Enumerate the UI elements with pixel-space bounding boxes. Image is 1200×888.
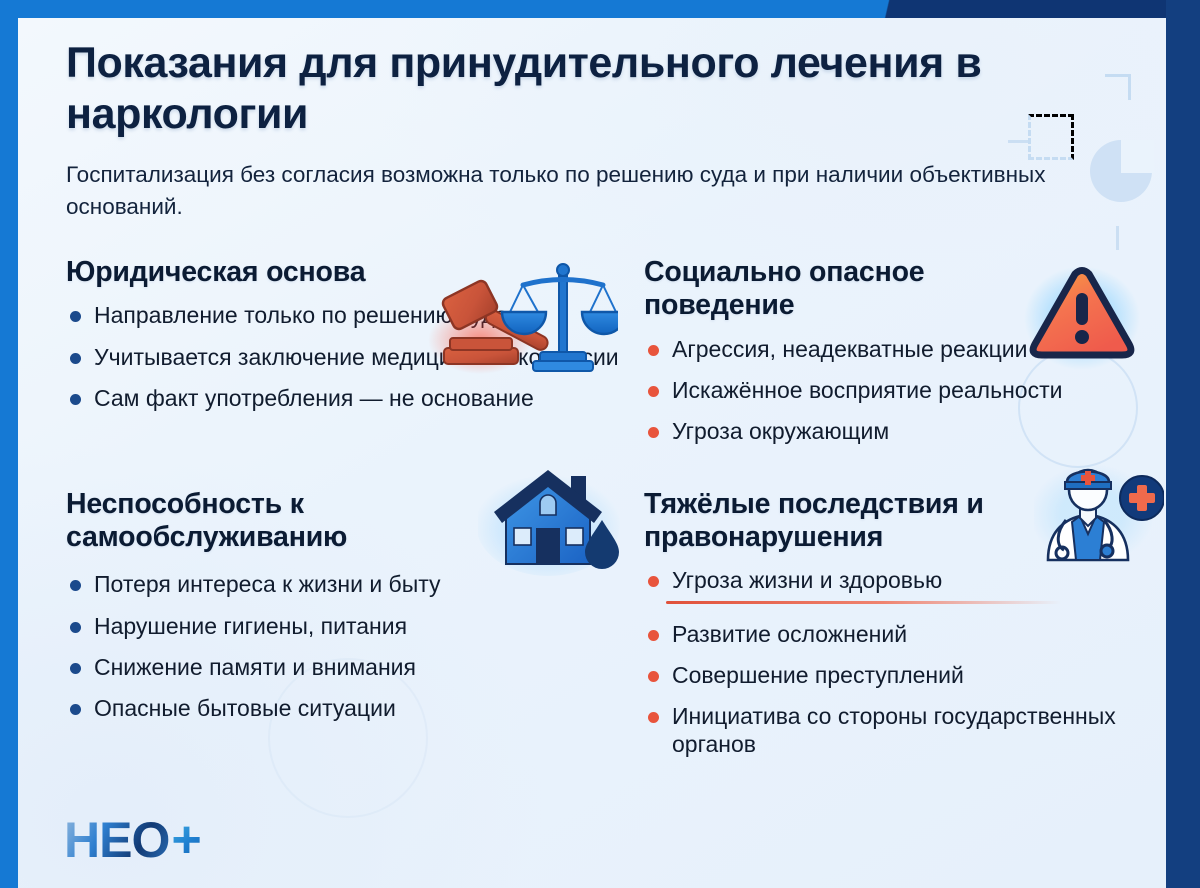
section-divider <box>666 601 1061 604</box>
list-item-text: Искажённое восприятие реальности <box>672 377 1062 403</box>
corner-bracket-decor-top <box>1105 74 1131 100</box>
logo-plus-icon: + <box>171 814 201 866</box>
house-droplet-svg <box>478 466 628 576</box>
house-droplet-icon <box>478 466 628 581</box>
frame-right-band <box>1166 0 1200 888</box>
list-item: Искажённое восприятие реальности <box>644 376 1146 404</box>
list-item: Сам факт употребления — не основание <box>66 384 644 412</box>
frame-left-band <box>0 0 18 888</box>
list-item-text: Сам факт употребления — не основание <box>94 385 534 411</box>
section-heading: Социально опасное поведение <box>644 256 1064 323</box>
section-points-list: Потеря интереса к жизни и быту Нарушение… <box>66 570 644 722</box>
logo-text: НЕО <box>64 815 169 865</box>
bullet-dot-icon <box>70 353 81 364</box>
bullet-dot-icon <box>70 394 81 405</box>
bullet-dot-icon <box>648 671 659 682</box>
bullet-dot-icon <box>648 345 659 356</box>
list-item-text: Агрессия, неадекватные реакции <box>672 336 1027 362</box>
list-item: Развитие осложнений <box>644 620 1146 648</box>
list-item: Направление только по решению суда <box>66 301 644 329</box>
list-item-text: Инициатива со стороны государственных ор… <box>672 703 1116 757</box>
list-item: Агрессия, неадекватные реакции <box>644 335 1146 363</box>
list-item: Нарушение гигиены, питания <box>66 612 644 640</box>
list-item: Угроза жизни и здоровью <box>644 566 1146 594</box>
bullet-dot-icon <box>648 427 659 438</box>
list-item-text: Потеря интереса к жизни и быту <box>94 571 441 597</box>
section-dangerous-behavior: Социально опасное поведение Агрессия, не… <box>644 256 1146 446</box>
section-legal: Юридическая основа Направление только по… <box>66 256 644 446</box>
frame-top-blue-band <box>0 0 880 18</box>
infographic-poster: Показания для принудительного лечения в … <box>0 0 1200 888</box>
section-points-list: Направление только по решению суда Учиты… <box>66 301 644 412</box>
list-item: Опасные бытовые ситуации <box>66 694 644 722</box>
list-item: Угроза окружающим <box>644 417 1146 445</box>
list-item: Потеря интереса к жизни и быту <box>66 570 644 598</box>
bullet-dot-icon <box>70 580 81 591</box>
list-item-text: Угроза жизни и здоровью <box>672 567 942 593</box>
bullet-dot-icon <box>648 630 659 641</box>
pie-chart-decor <box>1090 140 1152 202</box>
section-points-list: Угроза жизни и здоровью <box>644 566 1146 594</box>
page-title: Показания для принудительного лечения в … <box>66 38 1066 139</box>
bullet-dot-icon <box>648 386 659 397</box>
list-item-text: Направление только по решению суда <box>94 302 508 328</box>
section-points-list-continued: Развитие осложнений Совершение преступле… <box>644 620 1146 759</box>
list-item: Снижение памяти и внимания <box>66 653 644 681</box>
poster-canvas: Показания для принудительного лечения в … <box>18 18 1166 888</box>
list-item-text: Развитие осложнений <box>672 621 907 647</box>
header: Показания для принудительного лечения в … <box>66 38 1066 223</box>
page-subtitle: Госпитализация без согласия возможна тол… <box>66 159 1066 223</box>
doctor-cross-icon <box>1034 458 1164 573</box>
section-heading: Неспособность к самообслуживанию <box>66 488 466 555</box>
list-item-text: Учитывается заключение медицинской комис… <box>94 344 619 370</box>
list-item-text: Опасные бытовые ситуации <box>94 695 396 721</box>
bullet-dot-icon <box>70 622 81 633</box>
section-severe-consequences: Тяжёлые последствия и правонарушения Угр… <box>644 464 1146 759</box>
section-self-care-inability: Неспособность к самообслуживанию Потеря … <box>66 464 644 759</box>
bullet-dot-icon <box>70 311 81 322</box>
section-heading: Юридическая основа <box>66 256 644 289</box>
list-item: Учитывается заключение медицинской комис… <box>66 343 644 371</box>
section-points-list: Агрессия, неадекватные реакции Искажённо… <box>644 335 1146 446</box>
list-item-text: Совершение преступлений <box>672 662 964 688</box>
doctor-cross-svg <box>1034 458 1164 568</box>
bullet-dot-icon <box>70 663 81 674</box>
bullet-dot-icon <box>70 704 81 715</box>
sections-grid: Юридическая основа Направление только по… <box>66 256 1146 759</box>
list-item-text: Нарушение гигиены, питания <box>94 613 407 639</box>
list-item: Совершение преступлений <box>644 661 1146 689</box>
list-item: Инициатива со стороны государственных ор… <box>644 702 1146 759</box>
bullet-dot-icon <box>648 576 659 587</box>
brand-logo: НЕО + <box>64 814 202 866</box>
list-item-text: Снижение памяти и внимания <box>94 654 416 680</box>
list-item-text: Угроза окружающим <box>672 418 889 444</box>
bullet-dot-icon <box>648 712 659 723</box>
section-heading: Тяжёлые последствия и правонарушения <box>644 488 1044 555</box>
dash-decor-bottom <box>1116 226 1119 250</box>
